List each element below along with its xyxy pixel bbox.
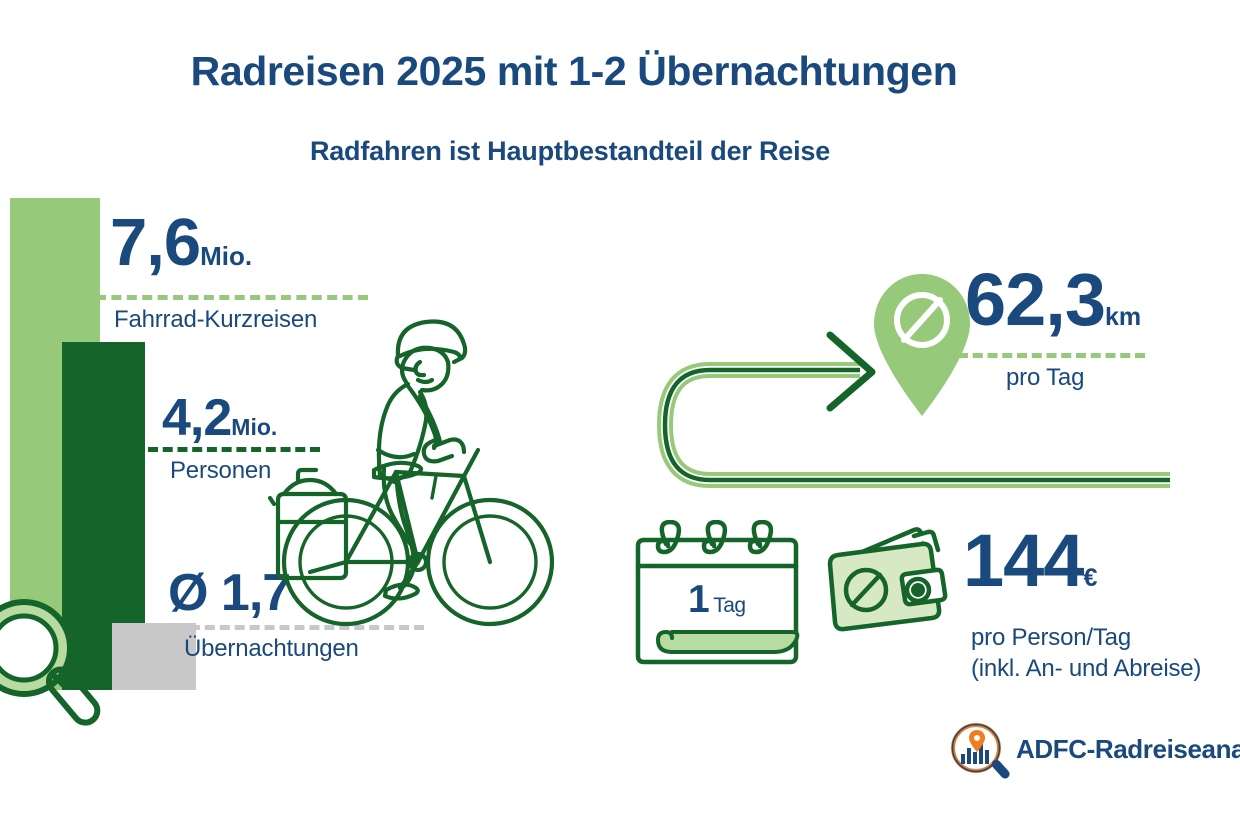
distance-value-row: 62,3km (965, 266, 1141, 334)
cost-caption-block: pro Person/Tag (inkl. An- und Abreise) (971, 624, 1201, 686)
cost-value-row: 144€ (963, 527, 1097, 595)
magnifier-icon (0, 588, 152, 773)
callout-cost: 144€ pro Person/Tag (inkl. An- und Abrei… (963, 527, 1097, 595)
map-pin-icon (862, 268, 982, 423)
cost-caption-line1: pro Person/Tag (971, 624, 1201, 652)
distance-value: 62,3 (965, 258, 1105, 341)
cost-unit: € (1083, 564, 1097, 592)
callout-unit: Mio. (200, 241, 252, 271)
calendar-value: 1 (688, 578, 709, 621)
callout-caption: Personen (170, 457, 271, 485)
callout-value: 7,6 (110, 205, 200, 280)
logo-text: ADFC-Radreiseanalyse (1016, 734, 1240, 765)
adfc-logo: ADFC-Radreiseanalyse (948, 722, 1014, 789)
distance-dashed-line (958, 353, 1145, 358)
callout-value: 4,2 (162, 389, 231, 447)
distance-unit: km (1105, 303, 1141, 331)
callout-distance: 62,3km pro Tag (965, 266, 1141, 334)
calendar-value-row: 1Tag (688, 578, 746, 622)
cost-value: 144 (963, 519, 1083, 602)
cyclist-illustration (268, 300, 568, 665)
magnifier-chart-icon (948, 722, 1014, 784)
calendar-unit: Tag (713, 594, 745, 617)
calendar-icon: 1Tag (628, 520, 828, 677)
page-title: Radreisen 2025 mit 1-2 Übernachtungen (0, 48, 1148, 95)
distance-caption: pro Tag (1006, 364, 1084, 392)
cost-caption-line2: (inkl. An- und Abreise) (971, 655, 1201, 683)
callout-value-row: 4,2Mio. (162, 395, 277, 443)
page-subtitle: Radfahren ist Hauptbestandteil der Reise (0, 136, 1140, 167)
callout-value-row: 7,6Mio. (110, 212, 252, 274)
infographic-canvas: Radreisen 2025 mit 1-2 Übernachtungen Ra… (0, 0, 1240, 827)
wallet-icon (818, 522, 958, 647)
